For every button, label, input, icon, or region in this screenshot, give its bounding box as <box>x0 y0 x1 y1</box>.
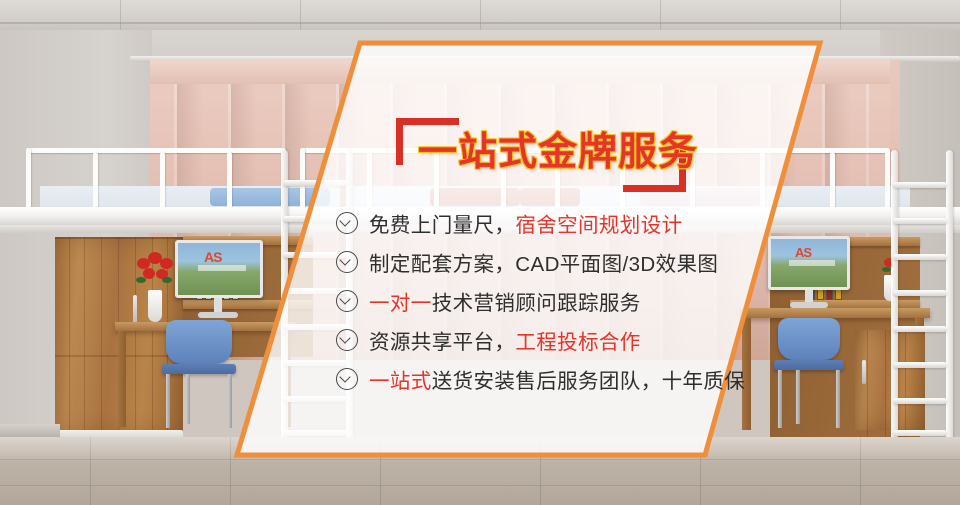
list-item-label: 资源共享平台，工程投标合作 <box>369 325 641 355</box>
circle-chevron-down-icon <box>336 212 358 234</box>
headline-block: 一站式金牌服务 <box>396 118 686 192</box>
plain-text: 送货安装售后服务团队，十年质保 <box>432 370 746 393</box>
circle-chevron-down-icon <box>336 251 358 273</box>
list-item-label: 一对一技术营销顾问跟踪服务 <box>369 286 641 316</box>
plain-text: 免费上门量尺， <box>369 214 515 237</box>
list-item: 一站式送货安装售后服务团队，十年质保 <box>336 359 896 398</box>
highlighted-text: 宿舍空间规划设计 <box>515 214 682 237</box>
panel-content: 一站式金牌服务 免费上门量尺，宿舍空间规划设计制定配套方案，CAD平面图/3D效… <box>0 0 960 505</box>
list-item-label: 一站式送货安装售后服务团队，十年质保 <box>369 364 745 394</box>
plain-text: 制定配套方案，CAD平面图/3D效果图 <box>369 253 718 276</box>
promo-banner: AS AS <box>0 0 960 505</box>
plain-text: 技术营销顾问跟踪服务 <box>432 292 641 315</box>
highlighted-text: 一对一 <box>369 292 432 315</box>
list-item: 一对一技术营销顾问跟踪服务 <box>336 281 896 320</box>
page-title: 一站式金牌服务 <box>418 125 668 181</box>
service-feature-list: 免费上门量尺，宿舍空间规划设计制定配套方案，CAD平面图/3D效果图一对一技术营… <box>336 203 896 398</box>
list-item-label: 免费上门量尺，宿舍空间规划设计 <box>369 208 683 238</box>
list-item: 制定配套方案，CAD平面图/3D效果图 <box>336 242 896 281</box>
plain-text: 资源共享平台， <box>369 331 515 354</box>
highlighted-text: 工程投标合作 <box>515 331 640 354</box>
circle-chevron-down-icon <box>336 329 358 351</box>
circle-chevron-down-icon <box>336 368 358 390</box>
highlighted-text: 一站式 <box>369 370 432 393</box>
list-item: 资源共享平台，工程投标合作 <box>336 320 896 359</box>
circle-chevron-down-icon <box>336 290 358 312</box>
list-item-label: 制定配套方案，CAD平面图/3D效果图 <box>369 247 718 277</box>
list-item: 免费上门量尺，宿舍空间规划设计 <box>336 203 896 242</box>
